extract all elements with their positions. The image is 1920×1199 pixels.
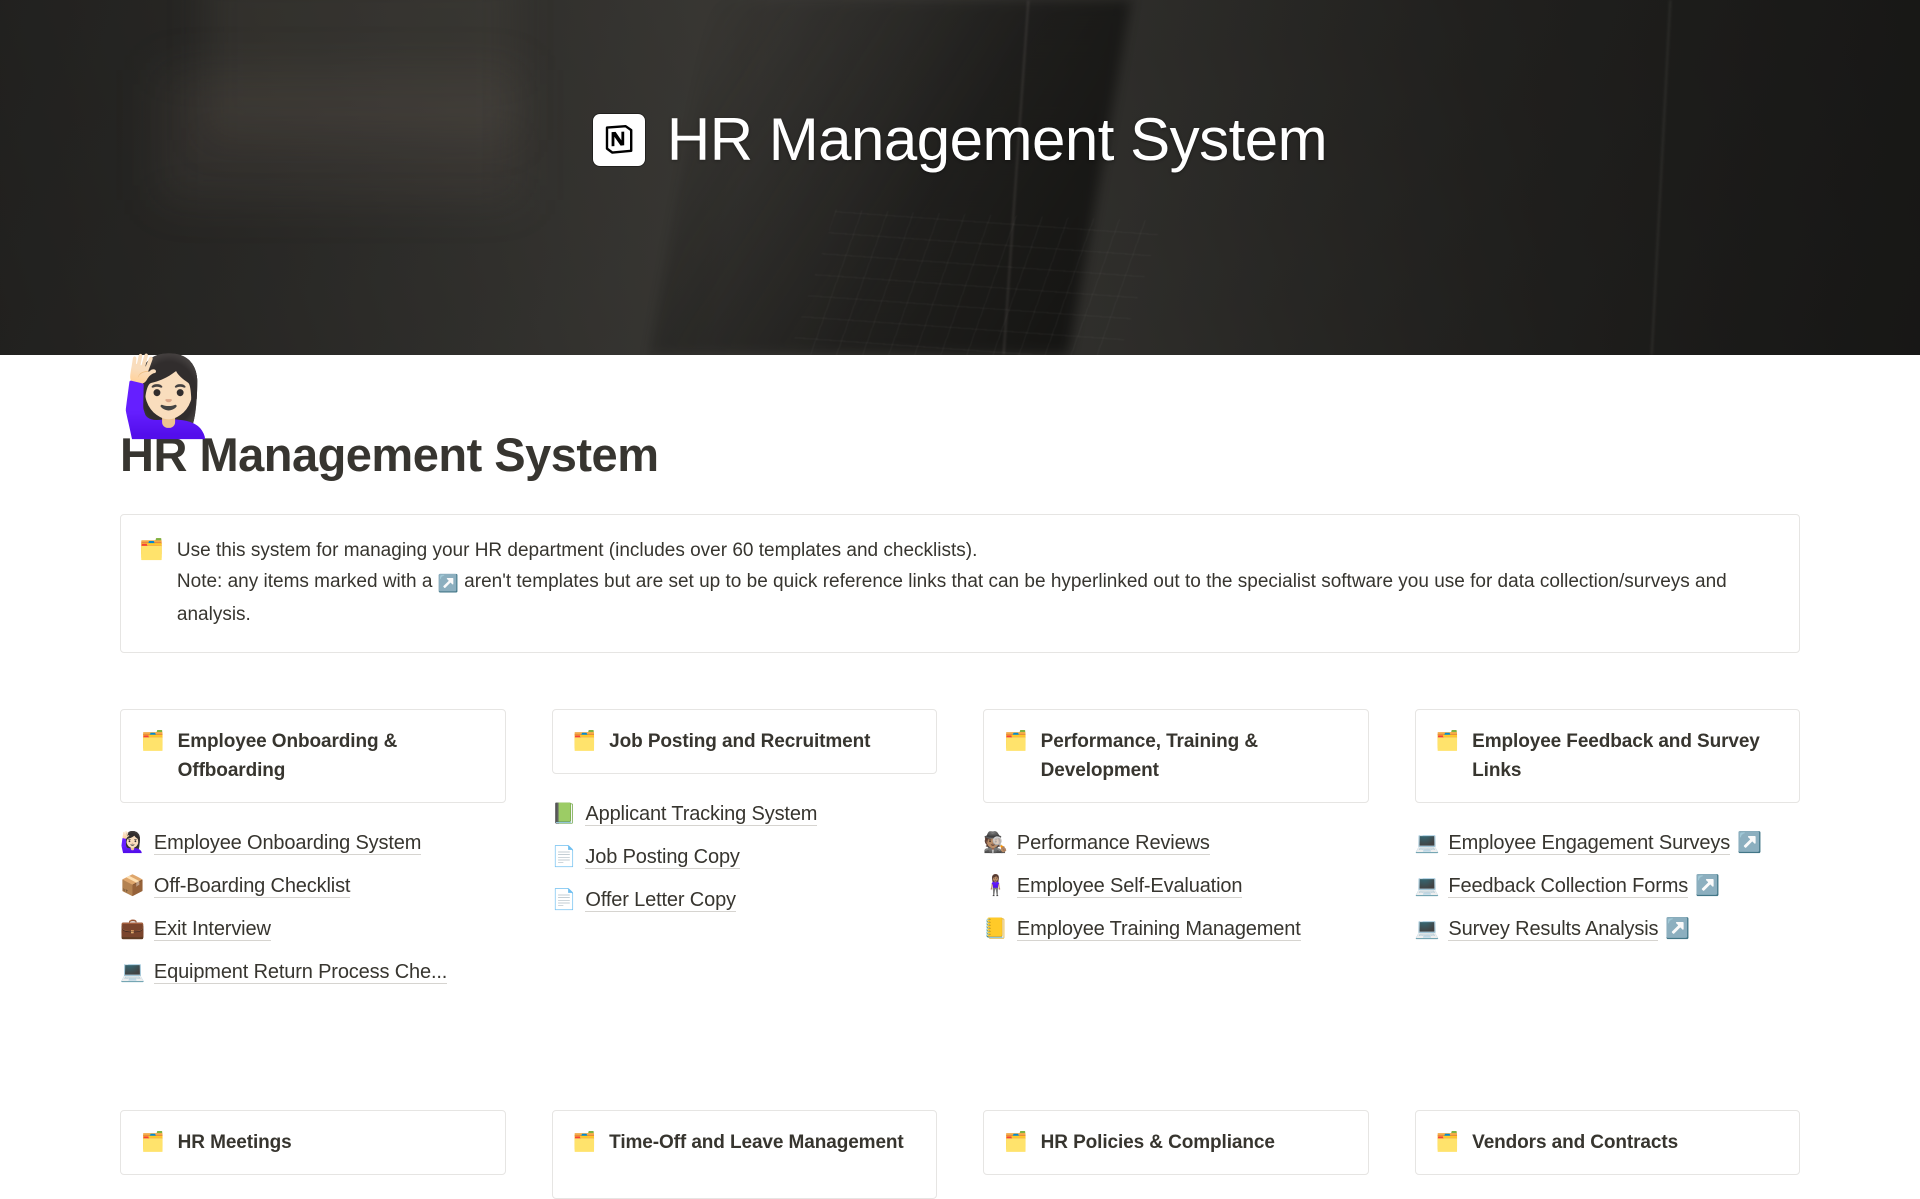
cover-title: HR Management System	[667, 110, 1327, 170]
folder-icon: 🗂️	[573, 1128, 597, 1157]
list-item[interactable]: 🕵🏽Performance Reviews	[983, 823, 1369, 866]
page-emoji: 📄	[552, 884, 577, 917]
page-link[interactable]: Feedback Collection Forms	[1448, 875, 1688, 898]
laptop-emoji: 💻	[1415, 827, 1440, 860]
list-item[interactable]: 📗Policies and Procedures Manual	[983, 1195, 1369, 1199]
external-link-icon: ↗️	[438, 574, 459, 593]
briefcase-emoji: 💼	[120, 913, 145, 946]
folder-card-title: Job Posting and Recruitment	[609, 727, 870, 756]
link-text-wrap: Employee Onboarding System	[154, 827, 421, 861]
page-link[interactable]: Employee Onboarding System	[154, 832, 421, 855]
list-item[interactable]: 💼Exit Interview	[120, 909, 506, 952]
intro-callout-line-1: Use this system for managing your HR dep…	[177, 535, 1775, 566]
cover-decor-keyboard	[788, 209, 1163, 355]
page-link[interactable]: Performance Reviews	[1017, 832, 1210, 855]
person-standing-emoji: 🧍🏽‍♀️	[983, 870, 1008, 903]
list-item[interactable]: 💁Vendor Management	[1415, 1195, 1801, 1199]
folder-icon: 🗂️	[573, 727, 597, 756]
notion-logo-icon	[593, 114, 645, 166]
woman-raising-hand-emoji: 🙋🏻‍♀️	[120, 827, 145, 860]
page-link[interactable]: Employee Training Management	[1017, 918, 1301, 941]
folder-icon: 🗂️	[141, 1128, 165, 1157]
folder-card[interactable]: 🗂️Employee Onboarding & Offboarding	[120, 709, 506, 803]
detective-emoji: 🕵🏽	[983, 827, 1008, 860]
list-item[interactable]: 💻Employee Engagement Surveys↗️	[1415, 823, 1801, 866]
folder-card-title: Employee Onboarding & Offboarding	[178, 727, 487, 785]
list-item[interactable]: 🙋🏻‍♀️Employee Onboarding System	[120, 823, 506, 866]
page-content: 🙋🏻‍♀️ HR Management System 🗂️ Use this s…	[0, 427, 1920, 1199]
folder-card[interactable]: 🗂️Time-Off and Leave Management	[552, 1110, 938, 1199]
link-list: 🕵🏽Performance Reviews🧍🏽‍♀️Employee Self-…	[983, 823, 1369, 952]
link-list: 📗Policies and Procedures Manual	[983, 1195, 1369, 1199]
section-column: 🗂️Performance, Training & Development🕵🏽P…	[983, 709, 1369, 995]
page-link[interactable]: Offer Letter Copy	[585, 889, 736, 912]
list-item[interactable]: 💻Feedback Collection Forms↗️	[1415, 866, 1801, 909]
list-item[interactable]: 📄Offer Letter Copy	[552, 880, 938, 923]
list-item[interactable]: 💻Equipment Return Process Che...	[120, 952, 506, 995]
folder-card-title: Performance, Training & Development	[1041, 727, 1350, 785]
page-cover: HR Management System	[0, 0, 1920, 355]
page-link[interactable]: Applicant Tracking System	[585, 803, 817, 826]
link-text-wrap: Equipment Return Process Che...	[154, 956, 447, 990]
link-list: 🙋🏻‍♀️Employee Onboarding System📦Off-Boar…	[120, 823, 506, 995]
notebook-emoji: 📒	[983, 913, 1008, 946]
external-link-icon: ↗️	[1665, 918, 1690, 940]
list-item[interactable]: 📦Off-Boarding Checklist	[120, 866, 506, 909]
section-column: 🗂️Job Posting and Recruitment📗Applicant …	[552, 709, 938, 995]
folder-icon: 🗂️	[1436, 1128, 1460, 1157]
folder-card-title: Time-Off and Leave Management	[609, 1128, 904, 1157]
page-emoji: 📄	[552, 841, 577, 874]
link-text-wrap: Survey Results Analysis↗️	[1448, 913, 1690, 947]
list-item[interactable]: 📗Applicant Tracking System	[552, 794, 938, 837]
folder-icon: 🗂️	[1004, 727, 1028, 756]
page-link[interactable]: Off-Boarding Checklist	[154, 875, 350, 898]
folder-icon: 🗂️	[141, 727, 165, 756]
laptop-emoji: 💻	[1415, 913, 1440, 946]
list-item[interactable]: 💻Survey Results Analysis↗️	[1415, 909, 1801, 952]
folder-card[interactable]: 🗂️HR Meetings	[120, 1110, 506, 1175]
link-text-wrap: Applicant Tracking System	[585, 798, 817, 832]
section-grid-row-2: 🗂️HR Meetings🌇Meeting Agenda & Notes🗂️Ti…	[120, 1110, 1800, 1199]
page-link[interactable]: Employee Engagement Surveys	[1448, 832, 1730, 855]
folder-card-title: Vendors and Contracts	[1472, 1128, 1678, 1157]
section-column: 🗂️Employee Feedback and Survey Links💻Emp…	[1415, 709, 1801, 995]
folder-icon: 🗂️	[1436, 727, 1460, 756]
page-link[interactable]: Employee Self-Evaluation	[1017, 875, 1242, 898]
folder-card-title: Employee Feedback and Survey Links	[1472, 727, 1781, 785]
bookmark-tabs-emoji: 📗	[552, 798, 577, 831]
list-item[interactable]: 🧍🏽‍♀️Employee Self-Evaluation	[983, 866, 1369, 909]
section-column: 🗂️HR Policies & Compliance📗Policies and …	[983, 1110, 1369, 1199]
intro-callout-line-2: Note: any items marked with a ↗️ aren't …	[177, 566, 1775, 630]
external-link-icon: ↗️	[1695, 875, 1720, 897]
page-link[interactable]: Survey Results Analysis	[1448, 918, 1658, 941]
folder-card[interactable]: 🗂️Vendors and Contracts	[1415, 1110, 1801, 1175]
folder-card-title: HR Policies & Compliance	[1041, 1128, 1275, 1157]
folder-card[interactable]: 🗂️Performance, Training & Development	[983, 709, 1369, 803]
list-item[interactable]: 🌇Meeting Agenda & Notes	[120, 1195, 506, 1199]
external-link-icon: ↗️	[1737, 832, 1762, 854]
intro-note-prefix: Note: any items marked with a	[177, 571, 438, 592]
link-text-wrap: Job Posting Copy	[585, 841, 739, 875]
link-text-wrap: Employee Training Management	[1017, 913, 1301, 947]
open-box-emoji: 📦	[120, 870, 145, 903]
intro-callout-text: Use this system for managing your HR dep…	[177, 535, 1775, 630]
folder-icon: 🗂️	[139, 535, 164, 565]
link-list: 📗Applicant Tracking System📄Job Posting C…	[552, 794, 938, 923]
link-text-wrap: Employee Self-Evaluation	[1017, 870, 1242, 904]
page-emoji-icon[interactable]: 🙋🏻‍♀️	[120, 357, 217, 435]
section-column: 🗂️HR Meetings🌇Meeting Agenda & Notes	[120, 1110, 506, 1199]
link-list: 💻Employee Engagement Surveys↗️💻Feedback …	[1415, 823, 1801, 952]
laptop-emoji: 💻	[120, 956, 145, 989]
folder-card[interactable]: 🗂️HR Policies & Compliance	[983, 1110, 1369, 1175]
link-list: 💁Vendor Management	[1415, 1195, 1801, 1199]
folder-card[interactable]: 🗂️Job Posting and Recruitment	[552, 709, 938, 774]
page-link[interactable]: Exit Interview	[154, 918, 271, 941]
link-text-wrap: Performance Reviews	[1017, 827, 1210, 861]
folder-card[interactable]: 🗂️Employee Feedback and Survey Links	[1415, 709, 1801, 803]
folder-icon: 🗂️	[1004, 1128, 1028, 1157]
link-list: 🌇Meeting Agenda & Notes	[120, 1195, 506, 1199]
page-title: HR Management System	[120, 427, 1800, 483]
section-grid-row-1: 🗂️Employee Onboarding & Offboarding🙋🏻‍♀️…	[120, 709, 1800, 995]
link-text-wrap: Off-Boarding Checklist	[154, 870, 350, 904]
link-text-wrap: Exit Interview	[154, 913, 271, 947]
section-column: 🗂️Vendors and Contracts💁Vendor Managemen…	[1415, 1110, 1801, 1199]
page-link[interactable]: Equipment Return Process Che...	[154, 961, 447, 984]
list-item[interactable]: 📒Employee Training Management	[983, 909, 1369, 952]
section-column: 🗂️Time-Off and Leave Management	[552, 1110, 938, 1199]
cover-title-group: HR Management System	[0, 110, 1920, 170]
intro-callout: 🗂️ Use this system for managing your HR …	[120, 514, 1800, 653]
laptop-emoji: 💻	[1415, 870, 1440, 903]
section-column: 🗂️Employee Onboarding & Offboarding🙋🏻‍♀️…	[120, 709, 506, 995]
list-item[interactable]: 📄Job Posting Copy	[552, 837, 938, 880]
link-text-wrap: Offer Letter Copy	[585, 884, 736, 918]
folder-card-title: HR Meetings	[178, 1128, 292, 1157]
link-text-wrap: Employee Engagement Surveys↗️	[1448, 827, 1762, 861]
page-link[interactable]: Job Posting Copy	[585, 846, 739, 869]
link-text-wrap: Feedback Collection Forms↗️	[1448, 870, 1720, 904]
